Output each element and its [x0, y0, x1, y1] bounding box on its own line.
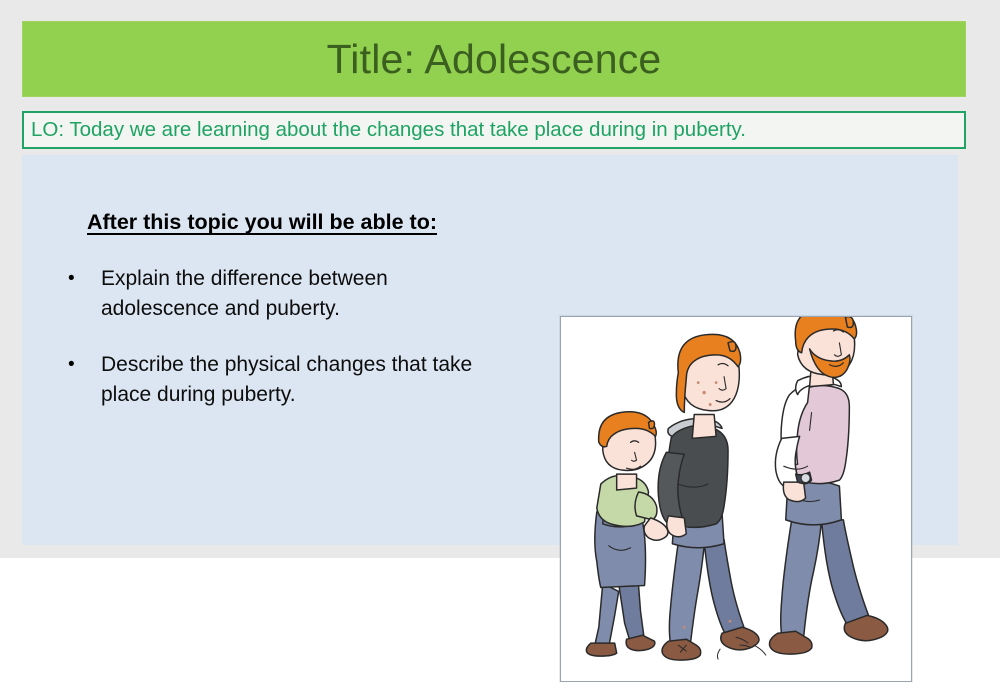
slide-body-panel: After this topic you will be able to: • …	[22, 155, 958, 545]
slide: Title: Adolescence LO: Today we are lear…	[0, 0, 1000, 558]
page-title: Title: Adolescence	[327, 39, 662, 80]
list-item-text: Explain the difference between adolescen…	[88, 264, 491, 324]
learning-objective-text: LO: Today we are learning about the chan…	[24, 120, 746, 141]
learning-objective-bar: LO: Today we are learning about the chan…	[22, 111, 966, 149]
bullet-marker-icon: •	[66, 264, 88, 294]
list-item: • Describe the physical changes that tak…	[66, 350, 526, 410]
objectives-heading: After this topic you will be able to:	[87, 210, 526, 235]
list-item: • Explain the difference between adolesc…	[66, 264, 526, 324]
bullet-marker-icon: •	[66, 350, 88, 380]
slide-title-bar: Title: Adolescence	[22, 21, 966, 97]
objectives-text-column: After this topic you will be able to: • …	[66, 210, 526, 436]
growth-stages-illustration	[560, 316, 912, 682]
growth-stages-figures	[561, 317, 911, 681]
list-item-text: Describe the physical changes that take …	[88, 350, 491, 410]
